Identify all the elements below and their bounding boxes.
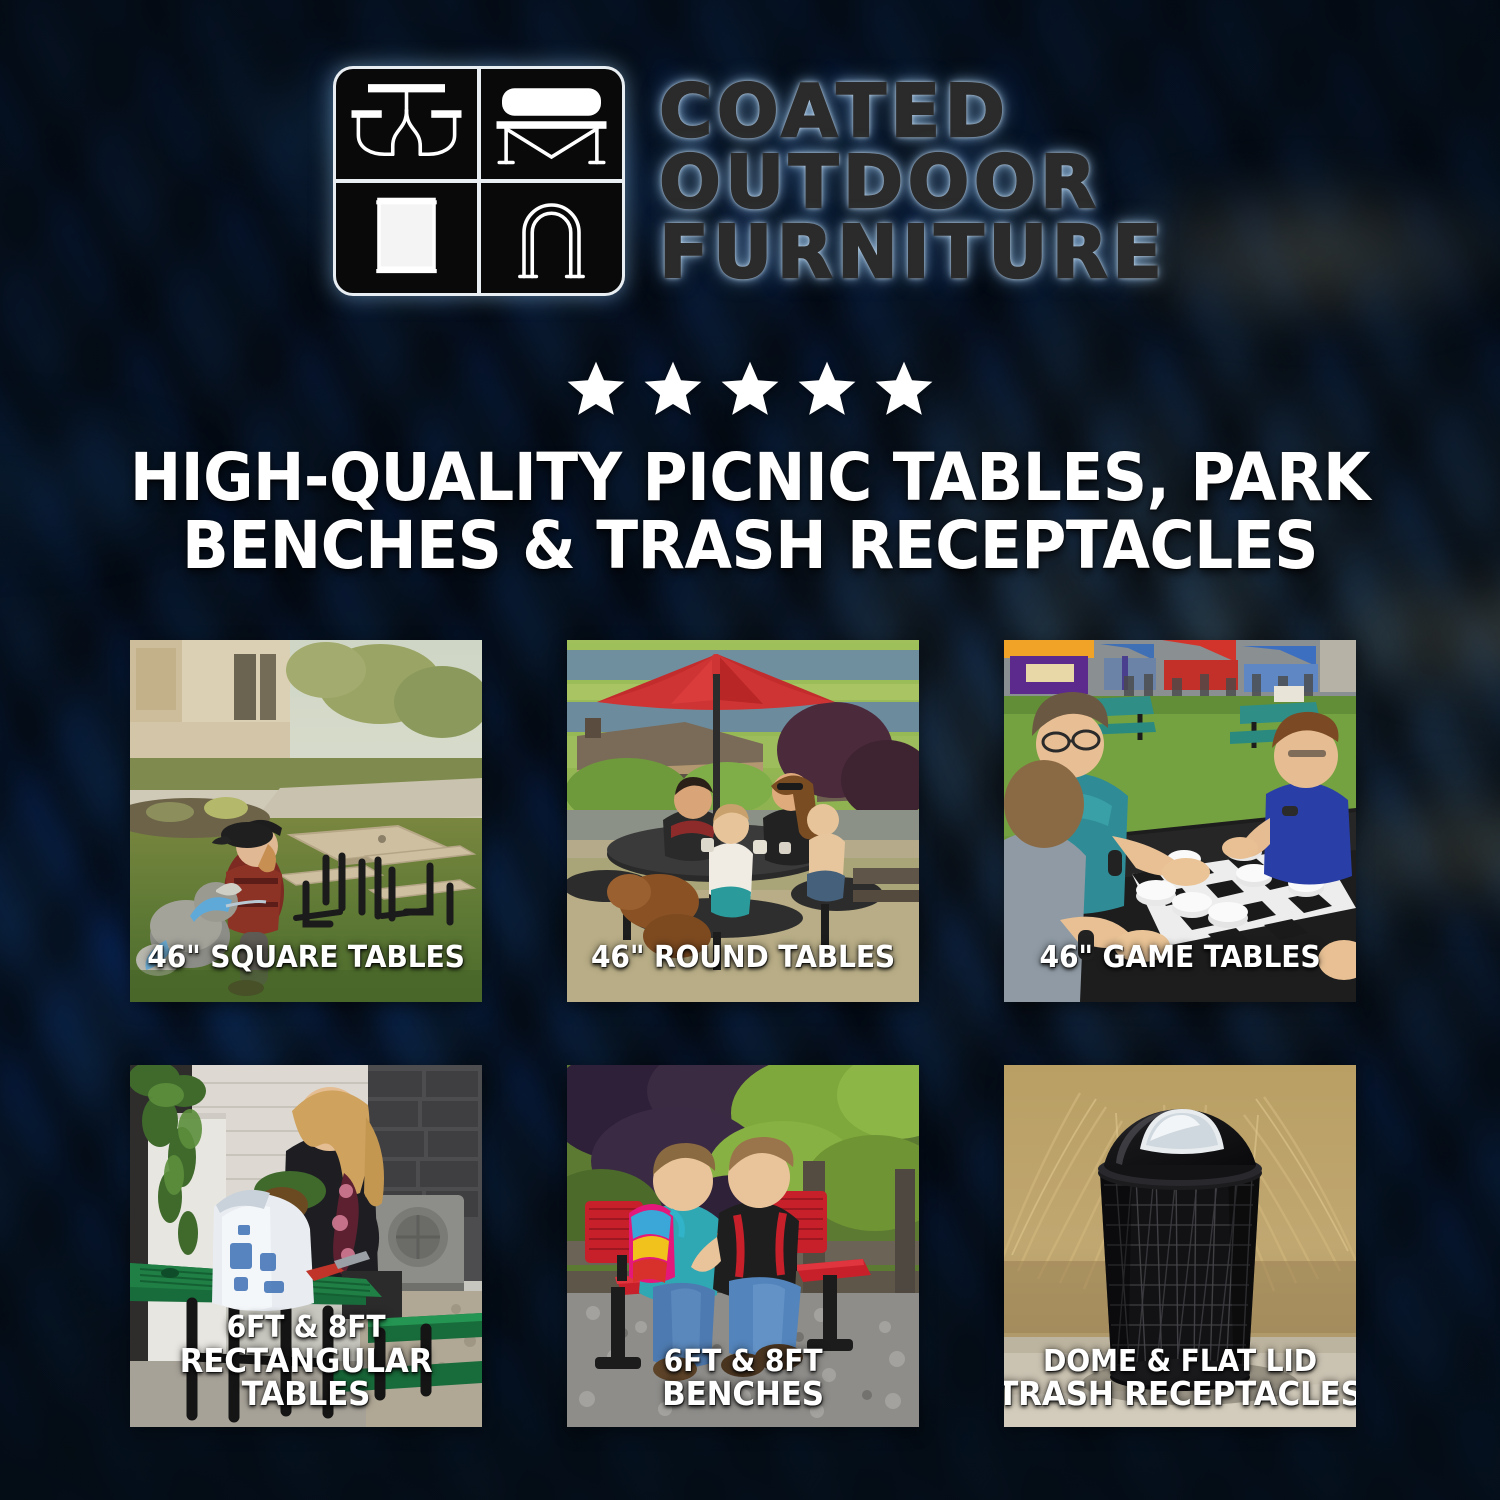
star-icon: [641, 358, 705, 420]
brand-line-3: FURNITURE: [659, 218, 1166, 286]
headline-line-1: HIGH-QUALITY PICNIC TABLES, PARK: [130, 439, 1370, 516]
brand-line-1: COATED: [659, 77, 1166, 145]
product-tile-game-tables[interactable]: 46" GAME TABLES: [1004, 640, 1356, 1002]
caption-line-1: 46" ROUND TABLES: [591, 940, 895, 975]
star-icon: [718, 358, 782, 420]
product-tile-square-tables[interactable]: 46" SQUARE TABLES: [130, 640, 482, 1002]
brand-wordmark: COATED OUTDOOR FURNITURE: [659, 75, 1166, 286]
logo-icon-grid: [333, 66, 625, 296]
star-icon: [872, 358, 936, 420]
caption-line-1: 6FT & 8FT: [227, 1310, 386, 1345]
headline-line-2: BENCHES & TRASH RECEPTACLES: [108, 512, 1391, 580]
product-caption: 46" ROUND TABLES: [567, 943, 919, 974]
brand-line-2: OUTDOOR: [659, 148, 1166, 216]
product-grid: 46" SQUARE TABLES: [130, 640, 1370, 1427]
caption-line-1: 46" GAME TABLES: [1040, 940, 1321, 975]
brand-logo: COATED OUTDOOR FURNITURE: [0, 66, 1500, 296]
product-tile-round-tables[interactable]: 46" ROUND TABLES: [567, 640, 919, 1002]
product-tile-benches[interactable]: 6FT & 8FT BENCHES: [567, 1065, 919, 1427]
caption-line-1: DOME & FLAT LID: [1043, 1344, 1317, 1379]
star-rating: [0, 358, 1500, 420]
star-icon: [564, 358, 628, 420]
product-caption: 6FT & 8FT RECTANGULAR TABLES: [130, 1313, 482, 1411]
caption-line-1: 6FT & 8FT: [664, 1344, 823, 1379]
bike-rack-icon: [481, 183, 622, 293]
product-caption: 46" GAME TABLES: [1004, 943, 1356, 974]
caption-line-2: RECTANGULAR TABLES: [130, 1344, 482, 1411]
product-caption: 6FT & 8FT BENCHES: [567, 1347, 919, 1411]
caption-line-1: 46" SQUARE TABLES: [147, 940, 464, 975]
product-caption: DOME & FLAT LID TRASH RECEPTACLES: [1004, 1347, 1356, 1411]
trash-receptacle-icon: [336, 183, 477, 293]
star-icon: [795, 358, 859, 420]
caption-line-2: TRASH RECEPTACLES: [1004, 1377, 1356, 1411]
picnic-table-icon: [336, 69, 477, 179]
product-tile-rectangular-tables[interactable]: 6FT & 8FT RECTANGULAR TABLES: [130, 1065, 482, 1427]
park-bench-icon: [481, 69, 622, 179]
caption-line-2: BENCHES: [567, 1377, 919, 1411]
page-title: HIGH-QUALITY PICNIC TABLES, PARK BENCHES…: [108, 444, 1391, 580]
promo-poster: COATED OUTDOOR FURNITURE HIGH-QUALITY PI…: [0, 0, 1500, 1500]
product-tile-trash-receptacles[interactable]: DOME & FLAT LID TRASH RECEPTACLES: [1004, 1065, 1356, 1427]
product-caption: 46" SQUARE TABLES: [130, 943, 482, 974]
